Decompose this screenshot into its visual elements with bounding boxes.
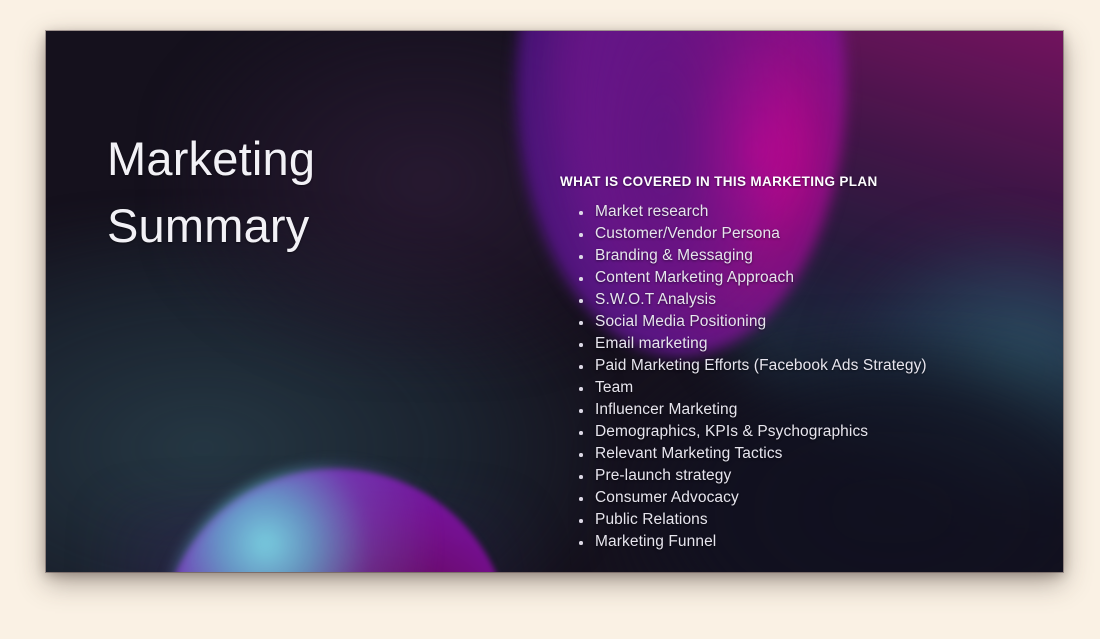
agenda-list: Market researchCustomer/Vendor PersonaBr… (573, 201, 927, 553)
agenda-list-item: Market research (573, 201, 927, 223)
agenda-list-item: Paid Marketing Efforts (Facebook Ads Str… (573, 355, 927, 377)
agenda-list-item: Social Media Positioning (573, 311, 927, 333)
slide-content: Marketing Summary WHAT IS COVERED IN THI… (46, 31, 1063, 572)
agenda-list-item: Influencer Marketing (573, 399, 927, 421)
agenda-list-item: Marketing Funnel (573, 531, 927, 553)
agenda-list-item: Team (573, 377, 927, 399)
agenda-list-item: Branding & Messaging (573, 245, 927, 267)
agenda-list-item: Consumer Advocacy (573, 487, 927, 509)
agenda-list-item: S.W.O.T Analysis (573, 289, 927, 311)
slide-title: Marketing Summary (107, 126, 437, 259)
agenda-list-item: Content Marketing Approach (573, 267, 927, 289)
agenda-heading: WHAT IS COVERED IN THIS MARKETING PLAN (560, 174, 878, 189)
agenda-list-item: Email marketing (573, 333, 927, 355)
agenda-list-item: Relevant Marketing Tactics (573, 443, 927, 465)
agenda-list-item: Demographics, KPIs & Psychographics (573, 421, 927, 443)
agenda-list-item: Pre-launch strategy (573, 465, 927, 487)
agenda-list-item: Public Relations (573, 509, 927, 531)
presentation-slide: Marketing Summary WHAT IS COVERED IN THI… (46, 31, 1063, 572)
agenda-list-item: Customer/Vendor Persona (573, 223, 927, 245)
